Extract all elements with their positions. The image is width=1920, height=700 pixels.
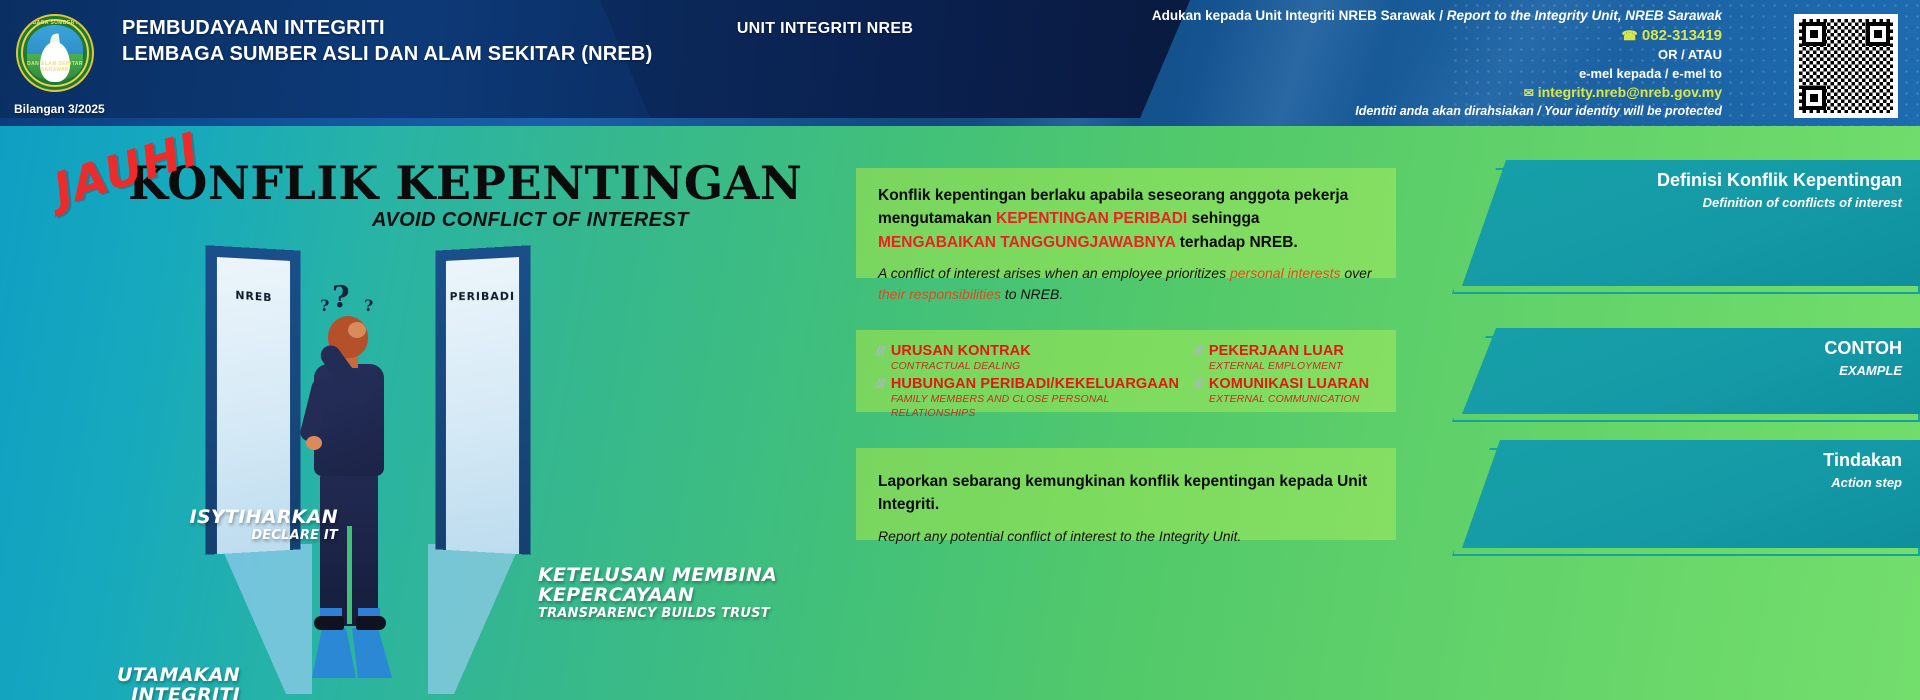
doors-illustration: NREB PERIBADI ? ? ? ISY: [0, 238, 840, 700]
action-en: Report any potential conflict of interes…: [878, 526, 1374, 547]
example-ms: URUSAN KONTRAK: [891, 342, 1031, 360]
person-hand-left: [306, 436, 322, 450]
contact-block: Adukan kepada Unit Integriti NREB Sarawa…: [982, 6, 1722, 121]
definition-en-c: to NREB.: [1001, 286, 1063, 302]
example-en: FAMILY MEMBERS AND CLOSE PERSONAL RELATI…: [891, 393, 1194, 419]
qr-finder-top-right: [1866, 22, 1890, 46]
logo-top-arc-text: LEMBAGA SUMBER ASLI: [18, 20, 92, 46]
callout-integrity-ms: UTAMAKAN INTEGRITI: [10, 666, 240, 700]
door-peribadi-label: PERIBADI: [435, 290, 530, 303]
infographic-poster: LEMBAGA SUMBER ASLI DAN ALAM SEKITAR SAR…: [0, 0, 1920, 700]
email-address: integrity.nreb@nreb.gov.my: [1538, 84, 1722, 100]
qr-code[interactable]: [1794, 14, 1898, 118]
phone-line[interactable]: ☎ 082-313419: [982, 25, 1722, 46]
person-shadow-right: [352, 628, 410, 678]
callout-integrity: UTAMAKAN INTEGRITI INTEGRITY FIRST: [10, 666, 240, 700]
definition-en-a: A conflict of interest arises when an em…: [878, 265, 1230, 281]
definition-en-highlight-2: their responsibilities: [878, 286, 1001, 302]
email-line[interactable]: ✉ integrity.nreb@nreb.gov.my: [982, 83, 1722, 103]
org-title: PEMBUDAYAAN INTEGRITI LEMBAGA SUMBER ASL…: [122, 16, 652, 67]
action-ms: Laporkan sebarang kemungkinan konflik ke…: [878, 470, 1374, 517]
definition-tab: Definisi Konflik Kepentingan Definition …: [1462, 160, 1920, 286]
example-ms: KOMUNIKASI LUARAN: [1209, 375, 1369, 393]
examples-card: /// URUSAN KONTRAK CONTRACTUAL DEALING /…: [856, 330, 1396, 412]
example-item: /// PEKERJAAN LUAR EXTERNAL EMPLOYMENT: [1194, 342, 1376, 373]
example-text-group: KOMUNIKASI LUARAN EXTERNAL COMMUNICATION: [1209, 375, 1369, 406]
definition-tab-ms: Definisi Konflik Kepentingan: [1488, 170, 1902, 192]
example-item: /// URUSAN KONTRAK CONTRACTUAL DEALING: [876, 342, 1194, 373]
examples-column-left: /// URUSAN KONTRAK CONTRACTUAL DEALING /…: [876, 342, 1194, 422]
bullet-icon: ///: [876, 375, 884, 394]
definition-card: Konflik kepentingan berlaku apabila sese…: [856, 168, 1396, 278]
bullet-icon: ///: [1194, 342, 1202, 361]
example-text-group: PEKERJAAN LUAR EXTERNAL EMPLOYMENT: [1209, 342, 1344, 373]
person-hand-right: [348, 322, 366, 338]
callout-declare-ms: ISYTIHARKAN: [98, 508, 338, 528]
report-line: Adukan kepada Unit Integriti NREB Sarawa…: [982, 6, 1722, 25]
definition-ms-highlight-2: MENGABAIKAN TANGGUNGJAWABNYA: [878, 234, 1175, 251]
definition-tab-en: Definition of conflicts of interest: [1488, 195, 1902, 211]
definition-en: A conflict of interest arises when an em…: [878, 263, 1374, 305]
callout-transparency-en: TRANSPARENCY BUILDS TRUST: [538, 606, 828, 621]
or-atau-label: OR / ATAU: [982, 46, 1722, 64]
action-card: Laporkan sebarang kemungkinan konflik ke…: [856, 448, 1396, 540]
example-en: EXTERNAL EMPLOYMENT: [1209, 360, 1344, 373]
callout-declare-en: DECLARE IT: [98, 528, 338, 543]
example-item: /// KOMUNIKASI LUARAN EXTERNAL COMMUNICA…: [1194, 375, 1376, 406]
phone-icon: ☎: [1622, 28, 1638, 43]
person-figure: [300, 316, 420, 636]
callout-declare: ISYTIHARKAN DECLARE IT: [98, 508, 338, 543]
definition-ms-highlight-1: KEPENTINGAN PERIBADI: [996, 210, 1187, 227]
page-title: KONFLIK KEPENTINGAN: [128, 160, 802, 206]
org-title-line2: LEMBAGA SUMBER ASLI DAN ALAM SEKITAR (NR…: [122, 42, 652, 68]
person-shoe-right: [356, 616, 386, 630]
person-shoe-left: [314, 616, 344, 630]
bullet-icon: ///: [1194, 375, 1202, 394]
example-text-group: URUSAN KONTRAK CONTRACTUAL DEALING: [891, 342, 1031, 373]
logo-bottom-arc-text: DAN ALAM SEKITAR SARAWAK: [18, 61, 92, 87]
report-line-ms: Adukan kepada Unit Integriti NREB Sarawa…: [1152, 8, 1447, 23]
example-en: EXTERNAL COMMUNICATION: [1209, 393, 1369, 406]
callout-transparency: KETELUSAN MEMBINA KEPERCAYAAN TRANSPAREN…: [538, 566, 828, 621]
email-label: e-mel kepada / e-mel to: [982, 65, 1722, 83]
example-ms: HUBUNGAN PERIBADI/KEKELUARGAAN: [891, 375, 1194, 393]
example-ms: PEKERJAAN LUAR: [1209, 342, 1344, 360]
light-beam-right: [428, 544, 520, 694]
action-tab-ms: Tindakan: [1488, 450, 1902, 472]
report-line-en: Report to the Integrity Unit, NREB Saraw…: [1447, 8, 1722, 23]
unit-title: UNIT INTEGRITI NREB: [700, 20, 950, 38]
example-item: /// HUBUNGAN PERIBADI/KEKELUARGAAN FAMIL…: [876, 375, 1194, 419]
examples-tab-en: EXAMPLE: [1488, 363, 1902, 379]
definition-en-highlight-1: personal interests: [1230, 265, 1341, 281]
examples-column-right: /// PEKERJAAN LUAR EXTERNAL EMPLOYMENT /…: [1194, 342, 1376, 422]
action-tab-en: Action step: [1488, 475, 1902, 491]
qr-finder-top-left: [1802, 22, 1826, 46]
person-leg-gap: [347, 526, 352, 624]
question-mark-small-left: ?: [320, 296, 329, 315]
identity-protected-note: Identiti anda akan dirahsiakan / Your id…: [982, 103, 1722, 121]
callout-transparency-ms: KETELUSAN MEMBINA KEPERCAYAAN: [538, 566, 828, 606]
page-subtitle: AVOID CONFLICT OF INTEREST: [372, 209, 689, 232]
definition-ms-c: terhadap NREB.: [1175, 234, 1297, 251]
definition-en-b: over: [1341, 265, 1372, 281]
door-peribadi: PERIBADI: [435, 245, 530, 555]
nreb-logo: LEMBAGA SUMBER ASLI DAN ALAM SEKITAR SAR…: [16, 14, 94, 92]
examples-grid: /// URUSAN KONTRAK CONTRACTUAL DEALING /…: [856, 330, 1396, 434]
examples-tab: CONTOH EXAMPLE: [1462, 328, 1920, 414]
phone-number: 082-313419: [1642, 27, 1722, 44]
definition-ms: Konflik kepentingan berlaku apabila sese…: [878, 184, 1374, 254]
header-bar: LEMBAGA SUMBER ASLI DAN ALAM SEKITAR SAR…: [0, 0, 1920, 145]
qr-finder-bottom-left: [1802, 86, 1826, 110]
bullet-icon: ///: [876, 342, 884, 361]
question-mark-large: ?: [332, 280, 350, 315]
example-text-group: HUBUNGAN PERIBADI/KEKELUARGAAN FAMILY ME…: [891, 375, 1194, 419]
envelope-icon: ✉: [1524, 86, 1534, 100]
example-en: CONTRACTUAL DEALING: [891, 360, 1031, 373]
definition-ms-b: sehingga: [1187, 210, 1259, 227]
question-mark-small-right: ?: [364, 296, 373, 315]
action-tab: Tindakan Action step: [1462, 440, 1920, 548]
org-title-line1: PEMBUDAYAAN INTEGRITI: [122, 16, 652, 42]
definition-card-text: Konflik kepentingan berlaku apabila sese…: [856, 168, 1396, 321]
examples-tab-ms: CONTOH: [1488, 338, 1902, 360]
action-card-text: Laporkan sebarang kemungkinan konflik ke…: [856, 448, 1396, 563]
issue-number: Bilangan 3/2025: [14, 102, 105, 116]
